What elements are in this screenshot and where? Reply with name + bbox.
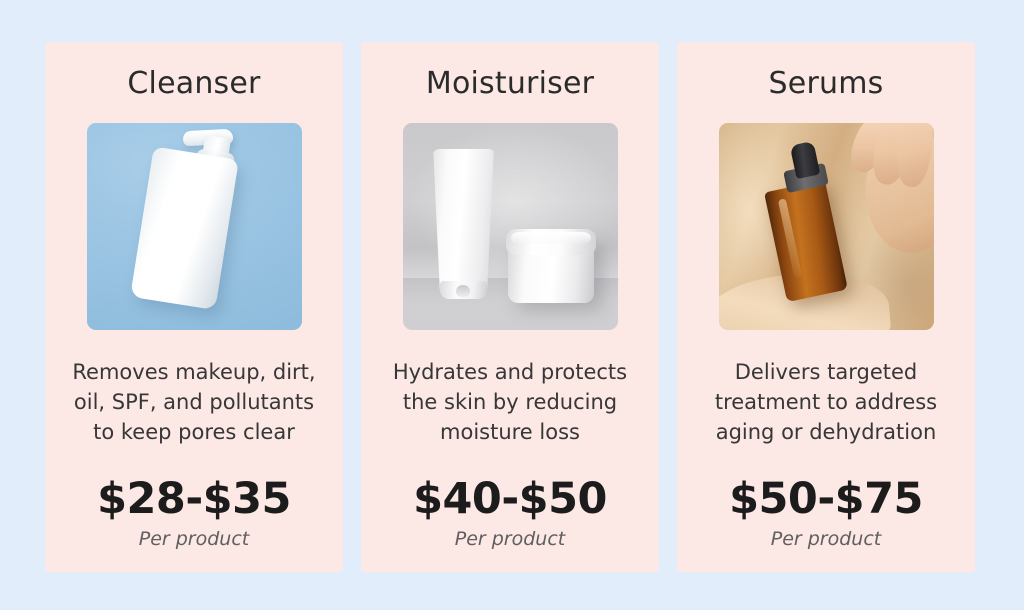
price-moisturiser: $40-$50: [361, 477, 659, 522]
card-title-cleanser: Cleanser: [127, 66, 260, 102]
price-block-serums: $50-$75 Per product: [677, 477, 975, 550]
card-title-serums: Serums: [769, 66, 884, 102]
card-description-cleanser: Removes makeup, dirt, oil, SPF, and poll…: [66, 357, 322, 447]
price-note-cleanser: Per product: [45, 528, 343, 550]
price-serums: $50-$75: [677, 477, 975, 522]
card-description-serums: Delivers targeted treatment to address a…: [698, 357, 954, 447]
price-note-serums: Per product: [677, 528, 975, 550]
cleanser-pump-bottle-photo: [87, 123, 302, 330]
cream-jar-lid-shape: [506, 229, 596, 255]
price-block-moisturiser: $40-$50 Per product: [361, 477, 659, 550]
product-card-serums[interactable]: Serums Delivers targeted treatment to ad…: [677, 42, 975, 572]
cream-tube-shape: [431, 149, 497, 289]
card-title-moisturiser: Moisturiser: [426, 66, 594, 102]
product-card-cleanser[interactable]: Cleanser Removes makeup, dirt, oil, SPF,…: [45, 42, 343, 572]
product-card-moisturiser[interactable]: Moisturiser Hydrates and protects the sk…: [361, 42, 659, 572]
cream-tube-cap-shape: [440, 281, 487, 299]
card-description-moisturiser: Hydrates and protects the skin by reduci…: [382, 357, 638, 447]
price-block-cleanser: $28-$35 Per product: [45, 477, 343, 550]
price-cleanser: $28-$35: [45, 477, 343, 522]
price-note-moisturiser: Per product: [361, 528, 659, 550]
pump-bottle-body-shape: [130, 146, 239, 310]
serum-dropper-bottle-photo: [719, 123, 934, 330]
product-cards-row: Cleanser Removes makeup, dirt, oil, SPF,…: [45, 42, 975, 572]
moisturiser-tube-and-jar-photo: [403, 123, 618, 330]
